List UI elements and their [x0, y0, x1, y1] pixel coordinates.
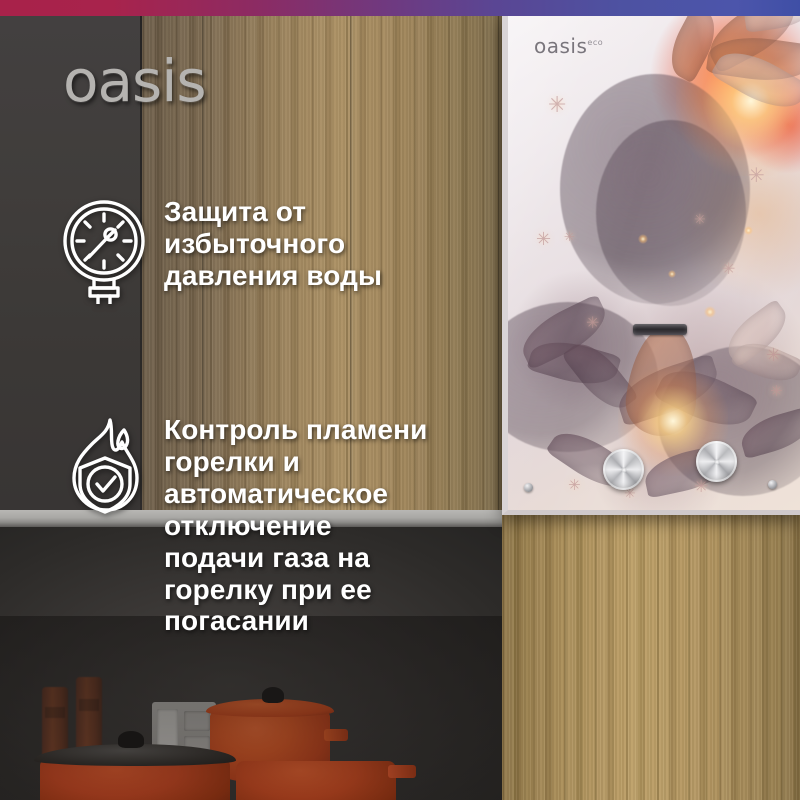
gas-water-heater[interactable]: ✳ ✳ ✳ ✳ ✳ ✳ ✳ ✳ ✳ ✳ ✳ ✳ oasiseco — [502, 16, 800, 515]
sparkle-icon: ✳ — [548, 94, 566, 116]
sparkle-dot — [744, 226, 753, 235]
feature-label: Защита от избыточного давления воды — [164, 196, 382, 292]
sparkle-icon: ✳ — [564, 230, 575, 243]
pressure-gauge-icon — [58, 196, 150, 304]
pot-knob — [262, 687, 284, 703]
cooking-pot — [236, 761, 396, 800]
top-gradient-band — [0, 0, 800, 16]
power-knob[interactable] — [696, 441, 737, 482]
sparkle-icon: ✳ — [568, 478, 581, 493]
sparkle-icon: ✳ — [536, 230, 551, 248]
pot-handle — [324, 729, 348, 741]
cabinet-seam — [498, 16, 501, 510]
outlet-socket — [184, 711, 210, 731]
pot-handle — [388, 765, 416, 778]
panel-screw — [768, 480, 777, 489]
sparkle-dot — [704, 306, 716, 318]
sparkle-icon: ✳ — [766, 346, 781, 364]
feature-label: Контроль пламени горелки и автоматическо… — [164, 414, 427, 637]
pot-knob — [118, 731, 144, 748]
panel-screw — [524, 483, 533, 492]
flame-shield-check-icon — [58, 414, 150, 520]
lcd-display — [633, 324, 687, 335]
product-logo: oasiseco — [534, 34, 603, 58]
floral-decor-glass-panel: ✳ ✳ ✳ ✳ ✳ ✳ ✳ ✳ ✳ ✳ ✳ ✳ — [508, 16, 800, 510]
sparkle-dot — [638, 234, 648, 244]
sparkle-icon: ✳ — [586, 316, 599, 332]
feature-item: Контроль пламени горелки и автоматическо… — [58, 414, 427, 637]
brand-logo: oasis — [63, 47, 206, 115]
sparkle-icon: ✳ — [748, 166, 765, 186]
kitchen-scene: ✳ ✳ ✳ ✳ ✳ ✳ ✳ ✳ ✳ ✳ ✳ ✳ oasiseco — [0, 16, 800, 800]
sparkle-icon: ✳ — [770, 384, 783, 399]
sparkle-icon: ✳ — [722, 262, 735, 278]
feature-item: Защита от избыточного давления воды — [58, 196, 382, 304]
temperature-knob[interactable] — [603, 449, 644, 490]
cooking-pot — [40, 758, 230, 800]
sparkle-dot — [668, 270, 676, 278]
product-logo-mark: eco — [587, 38, 603, 47]
sparkle-icon: ✳ — [694, 212, 706, 226]
sparkle-icon: ✳ — [694, 478, 708, 495]
promo-banner: ✳ ✳ ✳ ✳ ✳ ✳ ✳ ✳ ✳ ✳ ✳ ✳ oasiseco — [0, 0, 800, 800]
product-logo-text: oasis — [534, 34, 587, 58]
lower-wood-cabinet — [502, 513, 800, 800]
